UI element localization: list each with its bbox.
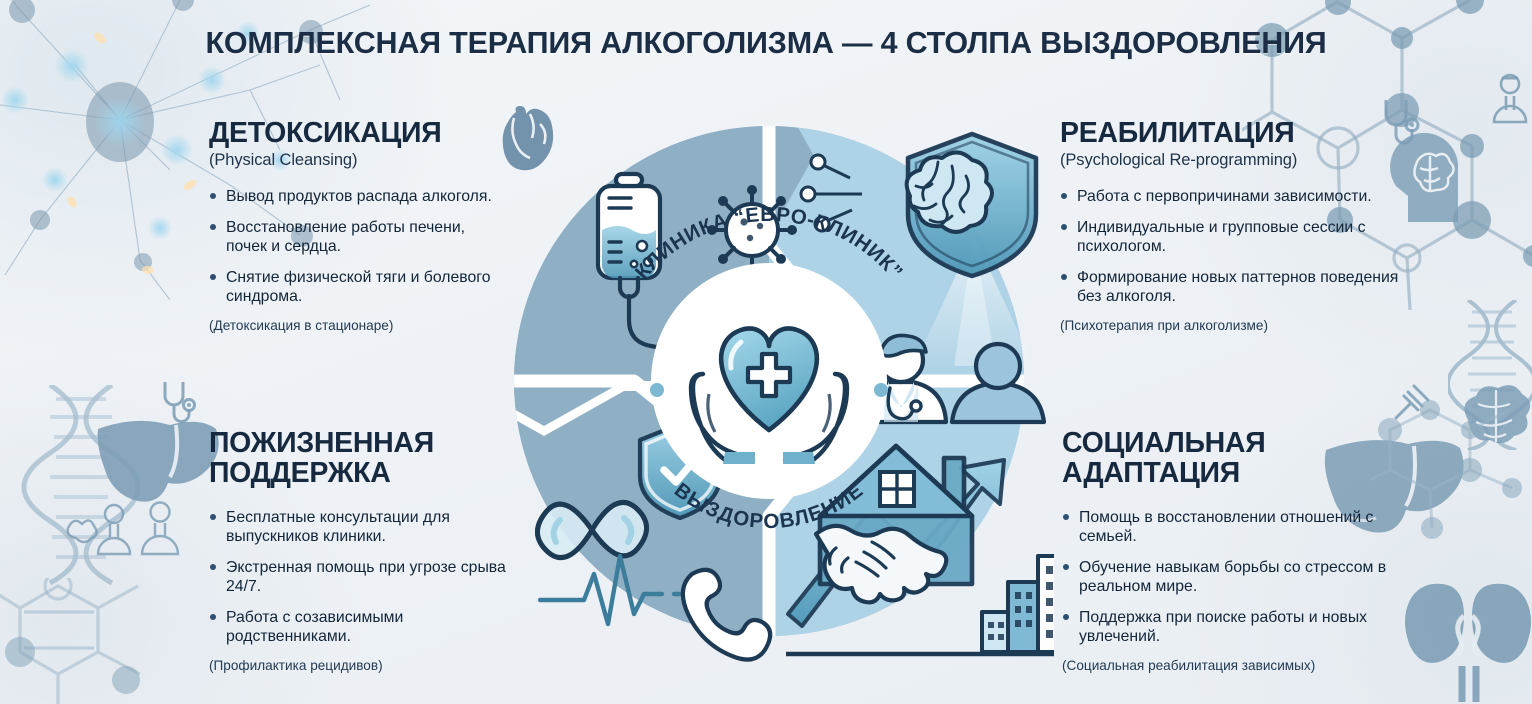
pillar-detox-heading: ДЕТОКСИКАЦИЯ: [209, 118, 509, 148]
doctor-figures-icon: [1488, 70, 1532, 130]
heading-line-2: ПОДДЕРЖКА: [209, 458, 529, 488]
syringe-icon: [1390, 378, 1436, 424]
badge-dot-left: [650, 383, 664, 397]
pillar-social-adaptation-heading: СОЦИАЛЬНАЯ АДАПТАЦИЯ: [1062, 428, 1402, 489]
brain-icon: [1450, 378, 1532, 458]
recovery-wheel-diagram: КЛИНИКА “ЕВРО-КЛИНИК” ВЫЗДОРОВЛЕНИЕ: [484, 96, 1054, 666]
list-item: Снятие физической тяги и болевого синдро…: [209, 268, 509, 307]
page-title: КОМПЛЕКСНАЯ ТЕРАПИЯ АЛКОГОЛИЗМА — 4 СТОЛ…: [0, 26, 1532, 61]
infographic-poster: КОМПЛЕКСНАЯ ТЕРАПИЯ АЛКОГОЛИЗМА — 4 СТОЛ…: [0, 0, 1532, 704]
pillar-social-adaptation-note: (Социальная реабилитация зависимых): [1062, 658, 1402, 673]
pillar-social-adaptation: СОЦИАЛЬНАЯ АДАПТАЦИЯ Помощь в восстановл…: [1062, 428, 1402, 673]
list-item: Вывод продуктов распада алкоголя.: [209, 187, 509, 206]
list-item: Работа с первопричинами зависимости.: [1060, 187, 1400, 206]
pillar-detox-note: (Детоксикация в стационаре): [209, 318, 509, 333]
pillar-rehabilitation-subtitle: (Psychological Re-programming): [1060, 151, 1400, 170]
pillar-lifelong-support: ПОЖИЗНЕННАЯ ПОДДЕРЖКА Бесплатные консуль…: [209, 428, 529, 673]
list-item: Поддержка при поиске работы и новых увле…: [1062, 608, 1402, 647]
kidneys-icon: [1398, 570, 1532, 704]
list-item: Бесплатные консультации для выпускников …: [209, 508, 529, 547]
badge-dot-right: [874, 383, 888, 397]
list-item: Работа с созависимыми родственниками.: [209, 608, 529, 647]
pillar-rehabilitation: РЕАБИЛИТАЦИЯ (Psychological Re-programmi…: [1060, 118, 1400, 333]
molecule-hexagon-icon: [0, 578, 190, 704]
list-item: Восстановление работы печени, почек и се…: [209, 218, 509, 257]
pillar-rehabilitation-heading: РЕАБИЛИТАЦИЯ: [1060, 118, 1400, 148]
list-item: Обучение навыкам борьбы со стрессом в ре…: [1062, 558, 1402, 597]
pillar-rehabilitation-bullets: Работа с первопричинами зависимости. Инд…: [1060, 187, 1400, 306]
pillar-detox: ДЕТОКСИКАЦИЯ (Physical Cleansing) Вывод …: [209, 118, 509, 333]
list-item: Формирование новых паттернов поведения б…: [1060, 268, 1400, 307]
pillar-lifelong-support-note: (Профилактика рецидивов): [209, 658, 529, 673]
heading-line-1: СОЦИАЛЬНАЯ: [1062, 428, 1402, 458]
list-item: Экстренная помощь при угрозе срыва 24/7.: [209, 558, 529, 597]
stethoscope-icon: [158, 378, 204, 432]
pillar-lifelong-support-heading: ПОЖИЗНЕННАЯ ПОДДЕРЖКА: [209, 428, 529, 489]
list-item: Индивидуальные и групповые сессии с псих…: [1060, 218, 1400, 257]
pillar-detox-bullets: Вывод продуктов распада алкоголя. Восста…: [209, 187, 509, 306]
dna-helix-icon: [20, 385, 140, 585]
dna-helix-icon: [1448, 300, 1532, 450]
pillar-social-adaptation-bullets: Помощь в восстановлении отношений с семь…: [1062, 508, 1402, 647]
pillar-rehabilitation-note: (Психотерапия при алкоголизме): [1060, 318, 1400, 333]
heading-line-1: ПОЖИЗНЕННАЯ: [209, 428, 529, 458]
pillar-detox-subtitle: (Physical Cleansing): [209, 151, 509, 170]
liver-icon: [92, 413, 222, 513]
heading-line-2: АДАПТАЦИЯ: [1062, 458, 1402, 488]
pillar-lifelong-support-bullets: Бесплатные консультации для выпускников …: [209, 508, 529, 647]
list-item: Помощь в восстановлении отношений с семь…: [1062, 508, 1402, 547]
doctor-figures-icon: [60, 498, 200, 560]
